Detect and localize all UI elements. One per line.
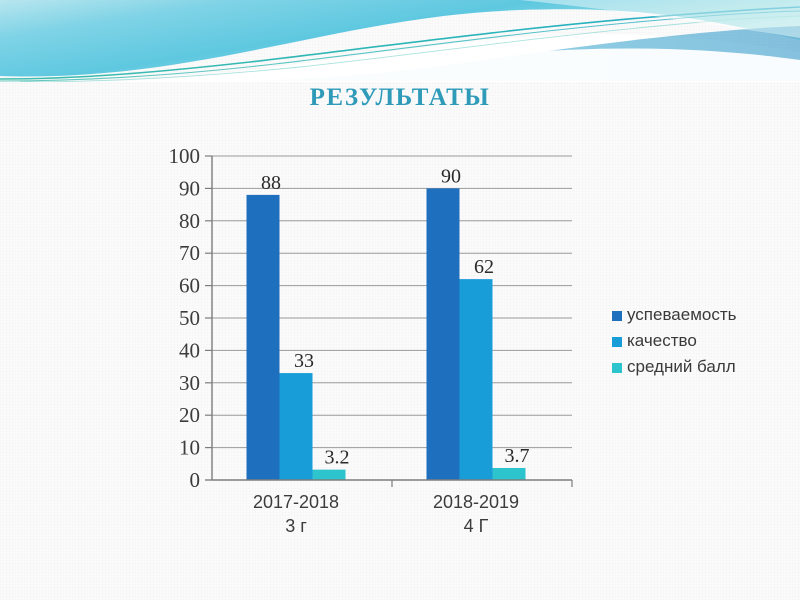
value-label-2018-2019-успеваемость: 90 [441,165,461,187]
y-tick-label-80: 80 [179,209,200,233]
y-tick-label-0: 0 [190,468,201,492]
value-label-2018-2019-качество: 62 [474,256,494,278]
page-title: РЕЗУЛЬТАТЫ [0,84,800,112]
legend-swatch-качество [612,337,622,347]
y-tick-label-90: 90 [179,176,200,200]
y-tick-label-50: 50 [179,306,200,330]
x-axis-sublabel-0: 3 г [285,516,307,536]
bar-2017-2018-качество [280,373,313,480]
y-tick-label-30: 30 [179,371,200,395]
legend-label-качество: качество [627,331,697,350]
y-tick-label-40: 40 [179,338,200,362]
x-axis-label-2018-2019: 2018-2019 [433,492,519,512]
y-tick-label-10: 10 [179,436,200,460]
x-axis-sublabel-1: 4 Г [464,516,489,536]
legend-swatch-успеваемость [612,311,622,321]
bar-chart: 0102030405060708090100 88333.290623.7 20… [150,140,790,540]
bar-2018-2019-качество [460,279,493,480]
chart-legend: успеваемостькачествосредний балл [612,305,737,376]
bar-2017-2018-успеваемость [247,195,280,480]
y-tick-label-70: 70 [179,241,200,265]
legend-swatch-средний балл [612,363,622,373]
value-label-2017-2018-качество: 33 [294,350,314,372]
bar-2017-2018-средний балл [313,470,346,480]
value-label-2018-2019-средний балл: 3.7 [505,445,530,467]
y-tick-label-60: 60 [179,274,200,298]
value-label-2017-2018-средний балл: 3.2 [325,447,350,469]
x-axis-label-2017-2018: 2017-2018 [253,492,339,512]
header-wave-decoration [0,0,800,82]
legend-label-успеваемость: успеваемость [627,305,737,324]
bar-2018-2019-средний балл [493,468,526,480]
chart-svg: 0102030405060708090100 88333.290623.7 20… [150,140,790,540]
y-axis-ticks: 0102030405060708090100 [169,144,213,492]
legend-label-средний балл: средний балл [627,357,736,376]
slide: РЕЗУЛЬТАТЫ 0102030405060708090100 88333.… [0,0,800,600]
value-label-2017-2018-успеваемость: 88 [261,172,281,194]
y-tick-label-100: 100 [169,144,201,168]
bar-2018-2019-успеваемость [427,188,460,480]
bar-series [247,188,526,480]
category-labels: 2017-20183 г2018-20194 Г [253,492,519,536]
y-tick-label-20: 20 [179,403,200,427]
